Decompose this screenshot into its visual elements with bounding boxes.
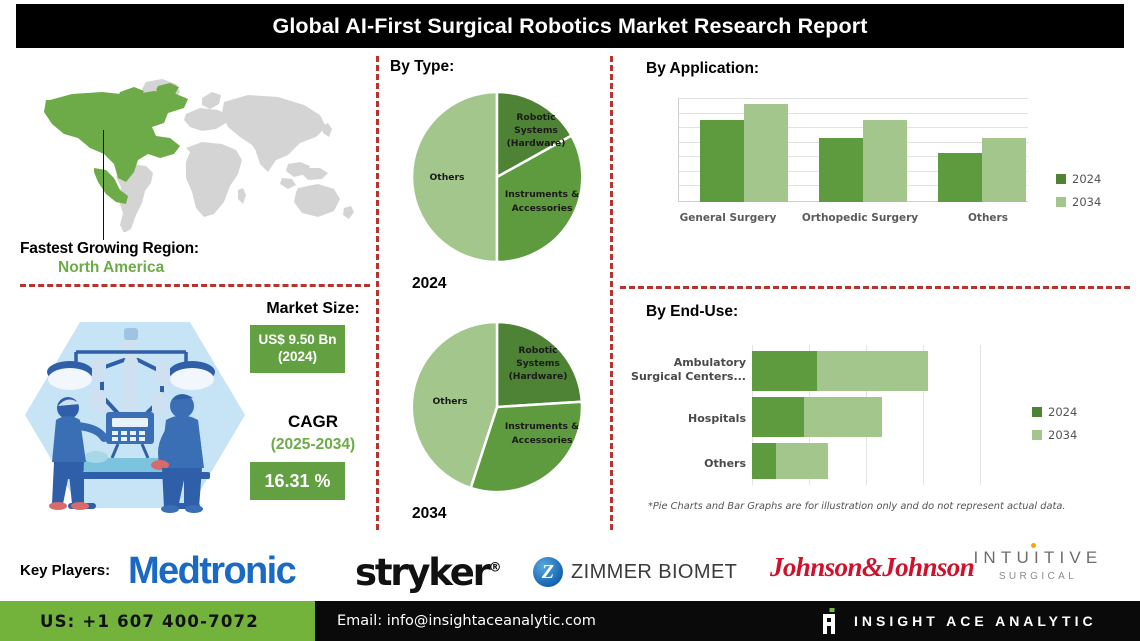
hbar-hospitals-2024 xyxy=(752,397,804,437)
svg-text:Accessories: Accessories xyxy=(512,203,573,214)
fastest-growing-region-value: North America xyxy=(58,259,308,277)
hcat-label-others-end-use: Others xyxy=(620,457,746,471)
surgical-robot-illustration xyxy=(20,300,250,530)
logo-intuitive-subtext: SURGICAL xyxy=(968,571,1108,582)
hbar-row-others xyxy=(752,443,980,479)
legend-swatch-2034-end-use xyxy=(1032,430,1042,440)
registered-mark-icon: ® xyxy=(489,561,502,576)
pie-chart-2024-year: 2024 xyxy=(412,275,446,293)
cagr-range: (2025-2034) xyxy=(248,436,378,454)
logo-stryker-text: stryker xyxy=(355,551,489,594)
header-bar: Global AI-First Surgical Robotics Market… xyxy=(16,4,1124,48)
logo-intuitive-text: INTUITIVE xyxy=(974,548,1103,568)
logo-zimmer-biomet: Z ZIMMER BIOMET xyxy=(533,557,737,587)
svg-text:Others: Others xyxy=(430,172,466,183)
footer-phone: US: +1 607 400-7072 xyxy=(0,612,259,631)
footer-brand: INSIGHT ACE ANALYTIC xyxy=(820,601,1097,641)
map-pointer-line xyxy=(103,130,104,240)
legend-label-2034: 2034 xyxy=(1072,195,1101,209)
hcat-label-hospitals: Hospitals xyxy=(620,412,746,426)
hbar-ambulatory-2024 xyxy=(752,351,817,391)
by-application-title: By Application: xyxy=(646,60,759,78)
chart-disclaimer: *Pie Charts and Bar Graphs are for illus… xyxy=(648,501,1065,512)
logo-medtronic: Medtronic xyxy=(128,550,295,593)
page-title: Global AI-First Surgical Robotics Market… xyxy=(273,14,868,39)
legend-label-2024-end-use: 2024 xyxy=(1048,405,1077,419)
by-application-legend: 2024 2034 xyxy=(1056,172,1101,218)
cagr-box: 16.31 % xyxy=(250,462,345,500)
hbar-others-2024 xyxy=(752,443,776,479)
fastest-growing-region-label: Fastest Growing Region: xyxy=(20,240,270,258)
bar-orthopedic-surgery-2024 xyxy=(819,138,863,202)
logo-stryker: stryker® xyxy=(355,551,502,594)
svg-text:Others: Others xyxy=(433,396,469,407)
logo-intuitive-surgical: INTUITIVE SURGICAL xyxy=(968,548,1108,582)
pie-chart-2034-year: 2034 xyxy=(412,505,446,523)
legend-swatch-2024-end-use xyxy=(1032,407,1042,417)
svg-text:Robotic: Robotic xyxy=(518,345,557,356)
footer-phone-bar: US: +1 607 400-7072 xyxy=(0,601,315,641)
hbar-row-hospitals xyxy=(752,397,980,437)
by-type-title: By Type: xyxy=(390,58,454,76)
svg-text:Instruments &: Instruments & xyxy=(505,189,579,200)
pie-chart-2034: Robotic Systems (Hardware) Instruments &… xyxy=(382,312,612,502)
logo-zimmer-text: ZIMMER BIOMET xyxy=(571,561,737,584)
cat-label-others-application: Others xyxy=(938,212,1038,224)
legend-label-2034-end-use: 2034 xyxy=(1048,428,1077,442)
hbar-row-ambulatory xyxy=(752,351,980,391)
by-application-chart xyxy=(678,98,1028,202)
bar-others-2034 xyxy=(982,138,1026,202)
footer-email: Email: info@insightaceanalytic.com xyxy=(315,613,596,629)
svg-text:(Hardware): (Hardware) xyxy=(507,138,566,149)
svg-text:(Hardware): (Hardware) xyxy=(509,371,568,382)
by-end-use-title: By End-Use: xyxy=(646,303,738,321)
market-size-title: Market Size: xyxy=(248,300,378,318)
hbar-hospitals-2034 xyxy=(804,397,882,437)
by-end-use-legend: 2024 2034 xyxy=(1032,405,1077,451)
bar-general-surgery-2034 xyxy=(744,104,788,202)
by-end-use-chart xyxy=(752,345,980,485)
footer-brand-text: INSIGHT ACE ANALYTIC xyxy=(854,613,1097,629)
divider-vertical-left xyxy=(376,56,379,530)
svg-text:Accessories: Accessories xyxy=(512,435,573,446)
market-size-box: US$ 9.50 Bn (2024) xyxy=(250,325,345,373)
cagr-value: 16.31 % xyxy=(264,470,330,493)
cat-label-orthopedic-surgery: Orthopedic Surgery xyxy=(788,212,932,224)
svg-text:Systems: Systems xyxy=(514,125,558,136)
legend-swatch-2024 xyxy=(1056,174,1066,184)
cagr-title: CAGR xyxy=(248,412,378,432)
pie-chart-2024: Robotic Systems (Hardware) Instruments &… xyxy=(382,82,612,272)
logo-johnson-and-johnson: Johnson&Johnson xyxy=(770,552,974,583)
infographic-page: Global AI-First Surgical Robotics Market… xyxy=(0,0,1140,641)
hbar-ambulatory-2034 xyxy=(817,351,928,391)
legend-label-2024: 2024 xyxy=(1072,172,1101,186)
divider-horizontal-right xyxy=(620,286,1130,289)
legend-swatch-2034 xyxy=(1056,197,1066,207)
bar-others-2024 xyxy=(938,153,982,202)
zimmer-z-icon: Z xyxy=(533,557,563,587)
bar-general-surgery-2024 xyxy=(700,120,744,202)
intuitive-dot-icon xyxy=(1031,543,1036,548)
svg-text:Instruments &: Instruments & xyxy=(505,421,579,432)
market-size-year: (2024) xyxy=(278,349,317,364)
svg-text:Systems: Systems xyxy=(516,358,560,369)
world-map xyxy=(10,72,370,232)
bar-orthopedic-surgery-2034 xyxy=(863,120,907,202)
svg-text:Robotic: Robotic xyxy=(516,112,555,123)
hcat-label-ambulatory: Ambulatory Surgical Centers... xyxy=(620,356,746,384)
divider-horizontal-left xyxy=(20,284,370,287)
insight-ace-logo-icon xyxy=(820,608,840,634)
market-size-value: US$ 9.50 Bn xyxy=(258,332,336,347)
key-players-label: Key Players: xyxy=(20,562,110,579)
hbar-others-2034 xyxy=(776,443,828,479)
cat-label-general-surgery: General Surgery xyxy=(668,212,788,224)
